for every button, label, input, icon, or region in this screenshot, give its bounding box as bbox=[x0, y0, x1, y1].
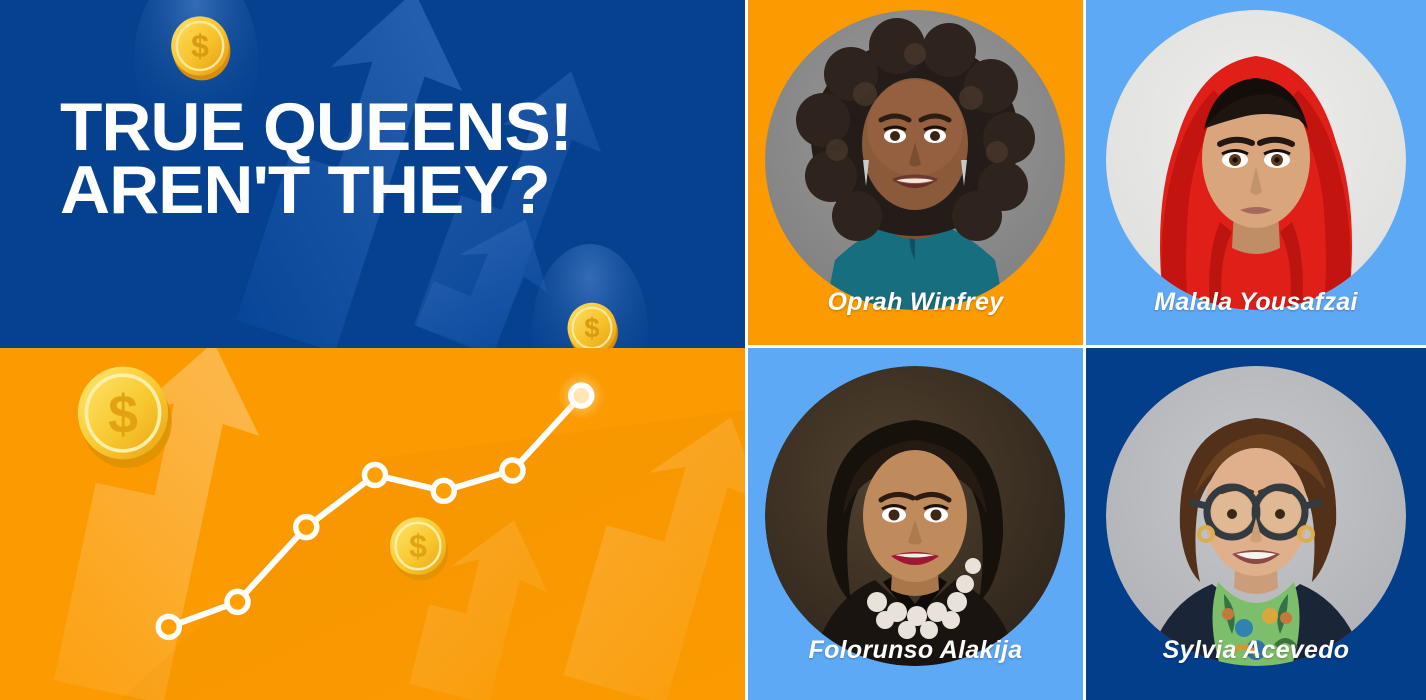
coin-icon: $ bbox=[378, 506, 458, 586]
chart-point[interactable] bbox=[227, 591, 248, 612]
avatar bbox=[765, 10, 1065, 310]
person-name: Oprah Winfrey bbox=[748, 288, 1083, 317]
coin-icon: $ bbox=[556, 292, 628, 348]
chart-point[interactable] bbox=[571, 385, 592, 406]
person-name: Malala Yousafzai bbox=[1086, 288, 1426, 317]
chart-point[interactable] bbox=[158, 616, 179, 637]
avatar bbox=[1106, 366, 1406, 666]
coin-icon: $ bbox=[62, 352, 184, 474]
chart-point[interactable] bbox=[433, 480, 454, 501]
person-card-oprah[interactable]: Oprah Winfrey bbox=[748, 0, 1083, 345]
page-title: TRUE QUEENS! AREN'T THEY? bbox=[60, 96, 733, 222]
svg-text:$: $ bbox=[191, 28, 209, 64]
headline-panel: TRUE QUEENS! AREN'T THEY? $ $ bbox=[0, 0, 745, 348]
headline-line-2: AREN'T THEY? bbox=[60, 159, 733, 222]
person-name: Folorunso Alakija bbox=[748, 636, 1083, 665]
portrait-oprah bbox=[765, 10, 1065, 310]
avatar bbox=[765, 366, 1065, 666]
person-name: Sylvia Acevedo bbox=[1086, 636, 1426, 665]
portrait-sylvia bbox=[1106, 366, 1406, 666]
portrait-folorunso bbox=[765, 366, 1065, 666]
chart-point[interactable] bbox=[296, 517, 317, 538]
coin-icon: $ bbox=[160, 6, 240, 86]
svg-text:$: $ bbox=[584, 312, 599, 343]
chart-point[interactable] bbox=[365, 465, 386, 486]
svg-text:$: $ bbox=[409, 528, 427, 564]
svg-text:$: $ bbox=[108, 385, 138, 445]
portrait-malala bbox=[1106, 10, 1406, 310]
poster-canvas: TRUE QUEENS! AREN'T THEY? $ $ bbox=[0, 0, 1426, 700]
person-card-malala[interactable]: Malala Yousafzai bbox=[1086, 0, 1426, 345]
chart-point[interactable] bbox=[502, 460, 523, 481]
person-card-sylvia[interactable]: Sylvia Acevedo bbox=[1086, 348, 1426, 700]
avatar bbox=[1106, 10, 1406, 310]
person-card-folorunso[interactable]: Folorunso Alakija bbox=[748, 348, 1083, 700]
growth-chart-panel: $ $ bbox=[0, 348, 745, 700]
